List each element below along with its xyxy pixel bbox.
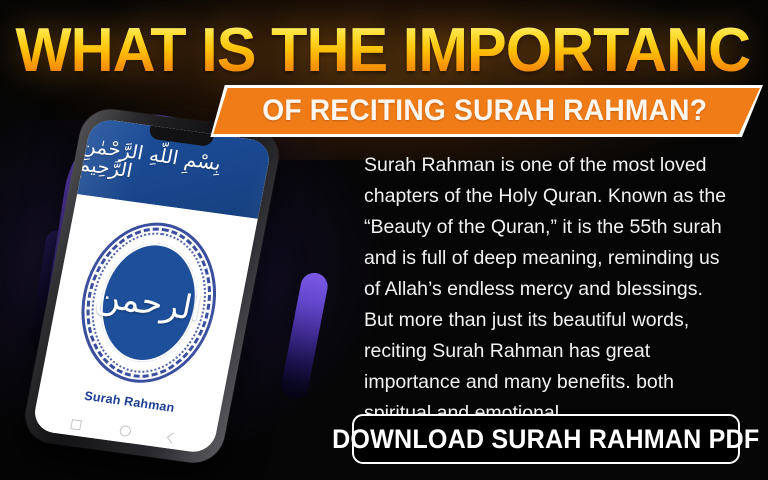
recents-square-icon[interactable] xyxy=(71,419,83,430)
poster-canvas: بِسْمِ اللّهِ الرَّحْمٰنِ الرَّحِيمِ الر… xyxy=(0,0,768,480)
app-content-area: الرحمن Surah Rahman xyxy=(31,194,257,454)
download-pdf-button[interactable]: DOWNLOAD SURAH RAHMAN PDF xyxy=(352,414,740,464)
subtitle-banner: OF RECITING SURAH RAHMAN? xyxy=(210,88,760,134)
phone-body: بِسْمِ اللّهِ الرَّحْمٰنِ الرَّحِيمِ الر… xyxy=(20,106,283,467)
download-pdf-label: DOWNLOAD SURAH RAHMAN PDF xyxy=(332,424,759,455)
phone-mockup: بِسْمِ اللّهِ الرَّحْمٰنِ الرَّحِيمِ الر… xyxy=(20,106,283,467)
page-title: WHAT IS THE IMPORTANCE xyxy=(15,20,752,82)
app-title-label: Surah Rahman xyxy=(83,389,176,415)
body-paragraph: Surah Rahman is one of the most loved ch… xyxy=(364,150,734,429)
phone-screen: بِسْمِ اللّهِ الرَّحْمٰنِ الرَّحِيمِ الر… xyxy=(31,118,272,455)
android-nav-bar xyxy=(33,413,216,449)
surah-emblem: الرحمن xyxy=(74,220,224,386)
back-chevron-icon[interactable] xyxy=(167,432,178,443)
ar-rahman-calligraphy: الرحمن xyxy=(93,279,204,327)
purple-pill-shape xyxy=(279,271,330,402)
home-circle-icon[interactable] xyxy=(118,425,131,437)
subtitle-banner-label: OF RECITING SURAH RAHMAN? xyxy=(263,94,708,128)
bismillah-calligraphy: بِسْمِ اللّهِ الرَّحْمٰنِ الرَّحِيمِ xyxy=(76,137,272,200)
